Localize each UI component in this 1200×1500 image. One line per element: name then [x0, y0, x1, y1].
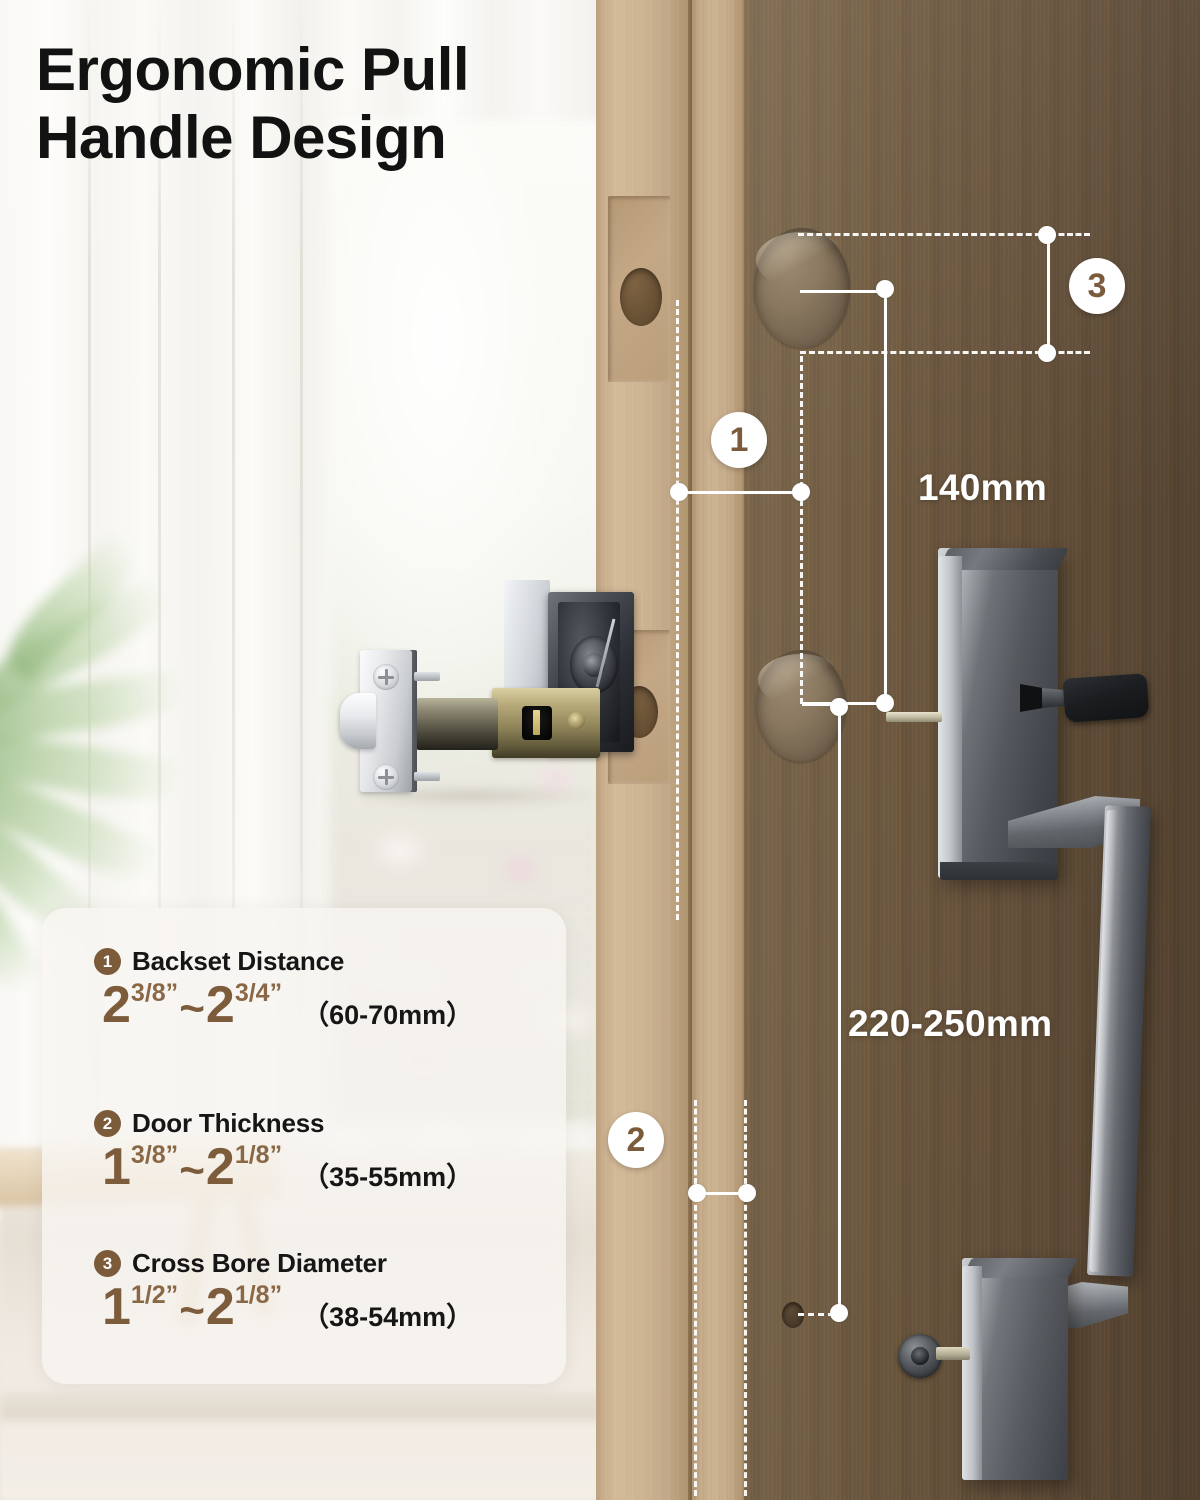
leader-line-bore-top	[798, 233, 1050, 236]
dimension-line-backset	[680, 491, 802, 494]
dimension-dot-handle-bottom	[830, 1304, 848, 1322]
dimension-line-handle-length	[838, 708, 841, 1310]
dimension-label-220-250mm: 220-250mm	[848, 1003, 1052, 1045]
value-frac-min: 1/2”	[131, 1283, 178, 1308]
faceplate-screw-top	[373, 664, 399, 690]
dimension-dot-handle-top	[830, 698, 848, 716]
badge-1-icon: 1	[94, 948, 121, 975]
dimension-dot-140mm-top	[876, 280, 894, 298]
spec-item-door-thickness: 2 Door Thickness 1 3/8” ~ 2 1/8” （35-55m…	[94, 1108, 564, 1193]
value-frac-min: 3/8”	[131, 981, 178, 1006]
latch-screw-hole	[568, 712, 585, 729]
thumb-turn-notch	[1020, 684, 1042, 712]
leader-line-bore-bottom-ext	[1050, 351, 1090, 354]
latch-drive-bar	[533, 710, 540, 735]
faceplate-screw-bottom	[373, 764, 399, 790]
guide-line-thickness-left-up	[694, 1100, 697, 1184]
spec-header: 3 Cross Bore Diameter	[94, 1248, 564, 1279]
value-frac-min: 3/8”	[131, 1143, 178, 1168]
value-whole-max: 2	[206, 979, 235, 1031]
marker-1[interactable]: 1	[711, 412, 767, 468]
spec-item-backset: 1 Backset Distance 2 3/8” ~ 2 3/4” （60-7…	[94, 946, 564, 1031]
faceplate-tab-bottom	[414, 772, 440, 781]
spec-value-door-thickness: 1 3/8” ~ 2 1/8” （35-55mm）	[102, 1141, 564, 1193]
value-whole-max: 2	[206, 1281, 235, 1333]
dimension-line-bore-diameter	[1047, 236, 1050, 354]
lock-cam-ring	[570, 636, 618, 694]
dimension-dot-bore-top	[1038, 226, 1056, 244]
value-whole-min: 1	[102, 1141, 131, 1193]
cross-bore-lip-top	[756, 232, 848, 288]
spec-value-backset: 2 3/8” ~ 2 3/4” （60-70mm）	[102, 979, 564, 1031]
guide-line-thickness-right-up	[744, 1100, 747, 1184]
value-range-tilde: ~	[179, 1149, 205, 1193]
spec-header: 1 Backset Distance	[94, 946, 564, 977]
value-frac-max: 1/8”	[235, 1283, 282, 1308]
latch-bolt	[340, 693, 376, 749]
value-metric: （38-54mm）	[302, 1303, 473, 1333]
spec-header: 2 Door Thickness	[94, 1108, 564, 1139]
value-frac-max: 1/8”	[235, 1143, 282, 1168]
spec-title-backset: Backset Distance	[132, 946, 344, 977]
strike-bore-top	[620, 268, 662, 326]
page-title: Ergonomic Pull Handle Design	[36, 36, 576, 173]
dimension-dot-backset-left	[670, 483, 688, 501]
guide-line-door-edge	[676, 300, 679, 920]
value-metric: （60-70mm）	[302, 1001, 473, 1031]
badge-2-icon: 2	[94, 1110, 121, 1137]
palm-plant	[0, 520, 300, 950]
thumb-turn-pad	[1063, 673, 1150, 723]
value-whole-min: 2	[102, 979, 131, 1031]
dimension-dot-thickness-left	[688, 1184, 706, 1202]
spec-item-cross-bore: 3 Cross Bore Diameter 1 1/2” ~ 2 1/8” （3…	[94, 1248, 564, 1333]
badge-3-icon: 3	[94, 1250, 121, 1277]
marker-3[interactable]: 3	[1069, 258, 1125, 314]
skirting-board	[0, 1392, 600, 1420]
spec-title-door-thickness: Door Thickness	[132, 1108, 324, 1139]
dimension-dot-bore-bottom	[1038, 344, 1056, 362]
thumb-turn-lever[interactable]	[1020, 676, 1144, 720]
guide-line-thickness-right	[744, 1196, 747, 1496]
guide-line-thickness-left	[694, 1196, 697, 1496]
door-edge-face	[692, 0, 744, 1500]
key-cylinder-tailpiece	[936, 1347, 970, 1360]
lower-escutcheon-left-bevel	[962, 1266, 982, 1480]
dimension-line-140mm	[884, 288, 887, 706]
value-frac-max: 3/4”	[235, 981, 282, 1006]
specs-card: 1 Backset Distance 2 3/8” ~ 2 3/4” （60-7…	[42, 908, 566, 1384]
value-whole-max: 2	[206, 1141, 235, 1193]
dimension-dot-backset-right	[792, 483, 810, 501]
latch-bolt-assembly	[352, 588, 602, 848]
guide-line-bore-center	[800, 356, 803, 704]
leader-line-bore-bottom	[800, 351, 1050, 354]
page-title-line-1: Ergonomic Pull	[36, 36, 576, 104]
marker-2[interactable]: 2	[608, 1112, 664, 1168]
dimension-label-140mm: 140mm	[918, 467, 1047, 509]
spec-value-cross-bore: 1 1/2” ~ 2 1/8” （38-54mm）	[102, 1281, 564, 1333]
latch-tube	[416, 698, 498, 750]
dimension-dot-thickness-right	[738, 1184, 756, 1202]
dimension-dot-140mm-bottom	[876, 694, 894, 712]
handle-length-bottom-leader	[798, 1313, 834, 1316]
leader-line-bore-top-ext	[1050, 233, 1090, 236]
value-range-tilde: ~	[179, 1289, 205, 1333]
latch-spindle	[886, 712, 942, 722]
spec-title-cross-bore: Cross Bore Diameter	[132, 1248, 387, 1279]
faceplate-tab-top	[414, 672, 440, 681]
page-title-line-2: Handle Design	[36, 104, 576, 172]
value-range-tilde: ~	[179, 987, 205, 1031]
value-whole-min: 1	[102, 1281, 131, 1333]
upper-escutcheon-bottom-bevel	[940, 862, 1058, 880]
value-metric: （35-55mm）	[302, 1163, 473, 1193]
